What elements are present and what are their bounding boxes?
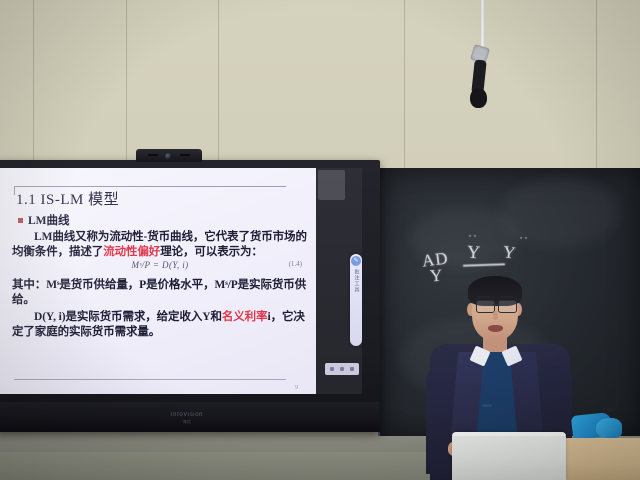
paragraph-3-part-a: D(Y, i)是实际货币需求，给定收入Y和 bbox=[34, 311, 222, 323]
paragraph-1-highlight: 流动性偏好 bbox=[103, 246, 160, 258]
previous-slide-icon[interactable] bbox=[330, 367, 334, 371]
title-rule bbox=[14, 186, 286, 187]
wooden-desk bbox=[566, 438, 640, 480]
slide-paragraph-2: 其中：Mˢ是货币供给量，P是价格水平，Mˢ/P是实际货币供给。 bbox=[12, 278, 308, 308]
webcam-icon bbox=[136, 149, 202, 162]
slide-bullet-item: LM曲线 bbox=[18, 212, 70, 228]
chalkboard-mark-dots: ˙˙ bbox=[468, 232, 478, 247]
next-slide-icon[interactable] bbox=[350, 367, 354, 371]
slide-equation-number: (1.4) bbox=[289, 260, 302, 268]
display-brand-label: InfoVision bbox=[0, 412, 380, 418]
slide-equation: Mˢ/P = D(Y, i) bbox=[131, 260, 188, 270]
lecturer-eyebrow-right bbox=[500, 296, 514, 298]
pointer-icon[interactable] bbox=[340, 367, 344, 371]
lecturer-nose bbox=[493, 311, 498, 320]
eyeglasses-lens-left bbox=[476, 300, 495, 313]
square-bullet-icon bbox=[18, 218, 23, 223]
screen-top-tab[interactable] bbox=[318, 170, 345, 200]
annotation-toolbar-label: 批注工具 bbox=[353, 269, 360, 293]
slide-bullet-label: LM曲线 bbox=[28, 212, 70, 228]
title-rule-tick bbox=[14, 186, 15, 195]
chalkboard-text-y: Y bbox=[429, 266, 444, 287]
microphone-rod bbox=[481, 0, 485, 50]
slide-page-number: 9 bbox=[295, 385, 298, 391]
podium bbox=[452, 432, 566, 480]
eyeglasses-lens-right bbox=[498, 300, 517, 313]
interactive-display[interactable]: 1.1 IS-LM 模型 LM曲线 LM曲线又称为流动性-货币曲线，它代表了货币… bbox=[0, 160, 380, 432]
lecturer-jacket-pocket bbox=[482, 404, 492, 407]
podium-top-edge bbox=[452, 432, 566, 436]
playback-controls[interactable] bbox=[325, 363, 359, 375]
slide-paragraph-1: LM曲线又称为流动性-货币曲线，它代表了货币市场的均衡条件，描述了流动性偏好理论… bbox=[12, 230, 308, 260]
blue-bag-strap bbox=[596, 418, 622, 438]
slide-title: 1.1 IS-LM 模型 bbox=[16, 188, 119, 209]
lecturer-eyebrow-left bbox=[477, 296, 491, 298]
chalk-smudge bbox=[500, 178, 620, 248]
display-screen[interactable]: 1.1 IS-LM 模型 LM曲线 LM曲线又称为流动性-货币曲线，它代表了货币… bbox=[0, 168, 362, 394]
slide-equation-row: Mˢ/P = D(Y, i) (1.4) bbox=[12, 260, 308, 270]
paragraph-3-highlight: 名义利率 bbox=[222, 311, 268, 323]
annotation-toolbar[interactable]: ✎ 批注工具 bbox=[350, 254, 362, 346]
slide-footer-rule bbox=[14, 379, 286, 380]
webcam-mic-slot bbox=[180, 154, 190, 156]
paragraph-1-part-b: 理论，可以表示为： bbox=[160, 246, 263, 258]
chalkboard-mark-dots-2: ˙˙ bbox=[519, 234, 529, 249]
eyeglasses-bridge bbox=[493, 304, 498, 305]
webcam-lens-icon bbox=[165, 153, 172, 160]
slide-paragraph-3: D(Y, i)是实际货币需求，给定收入Y和名义利率i，它决定了家庭的实际货币需求… bbox=[12, 310, 308, 340]
webcam-mic-slot bbox=[148, 154, 158, 156]
presentation-slide: 1.1 IS-LM 模型 LM曲线 LM曲线又称为流动性-货币曲线，它代表了货币… bbox=[0, 168, 316, 394]
microphone-head-icon bbox=[470, 88, 487, 108]
display-bottom-bezel: InfoVision 海信 bbox=[0, 402, 380, 432]
lecturer-mouth bbox=[488, 325, 503, 332]
pen-icon[interactable]: ✎ bbox=[351, 256, 361, 266]
left-desk-surface bbox=[0, 452, 452, 480]
display-brand-sublabel: 海信 bbox=[0, 419, 380, 425]
classroom-photo: AD Y Y Y ˙˙ ˙˙ 1.1 IS-LM 模型 LM曲线 LM曲线又 bbox=[0, 0, 640, 480]
